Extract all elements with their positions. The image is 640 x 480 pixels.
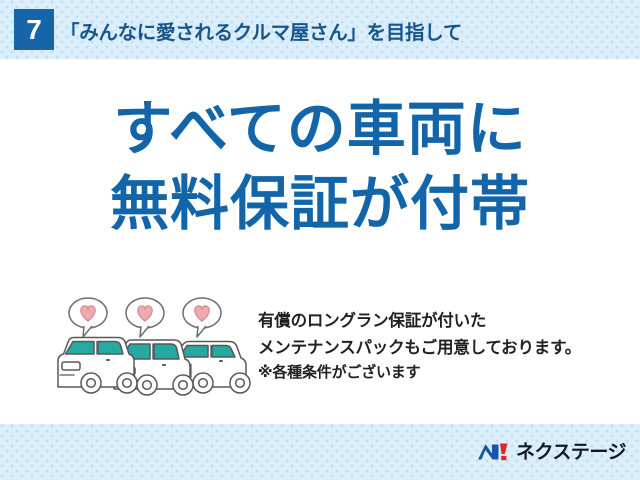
- section-number-badge: 7: [14, 9, 54, 50]
- car-kei-wagon: [58, 338, 137, 394]
- headline-line-2: 無料保証が付帯: [0, 175, 640, 234]
- body-copy-line-1: 有償のロングラン保証が付いた: [258, 308, 638, 335]
- body-copy-note: ※各種条件がございます: [258, 361, 638, 385]
- brand-name-label: ネクステージ: [516, 443, 626, 462]
- headline-block: すべての車両に 無料保証が付帯: [0, 100, 640, 234]
- brand-logo: ネクステージ: [477, 439, 626, 465]
- body-copy-line-2: メンテナンスパックもご用意しております。: [258, 335, 638, 362]
- headline-line-1: すべての車両に: [0, 100, 640, 159]
- cars-illustration: [52, 295, 252, 400]
- slide-root: 7 「みんなに愛されるクルマ屋さん」を目指して すべての車両に 無料保証が付帯: [0, 0, 640, 480]
- nextage-n-mark-icon: [477, 441, 509, 463]
- page-title: 「みんなに愛されるクルマ屋さん」を目指して: [60, 14, 462, 46]
- section-number-label: 7: [26, 16, 42, 44]
- body-copy: 有償のロングラン保証が付いた メンテナンスパックもご用意しております。 ※各種条…: [258, 308, 638, 386]
